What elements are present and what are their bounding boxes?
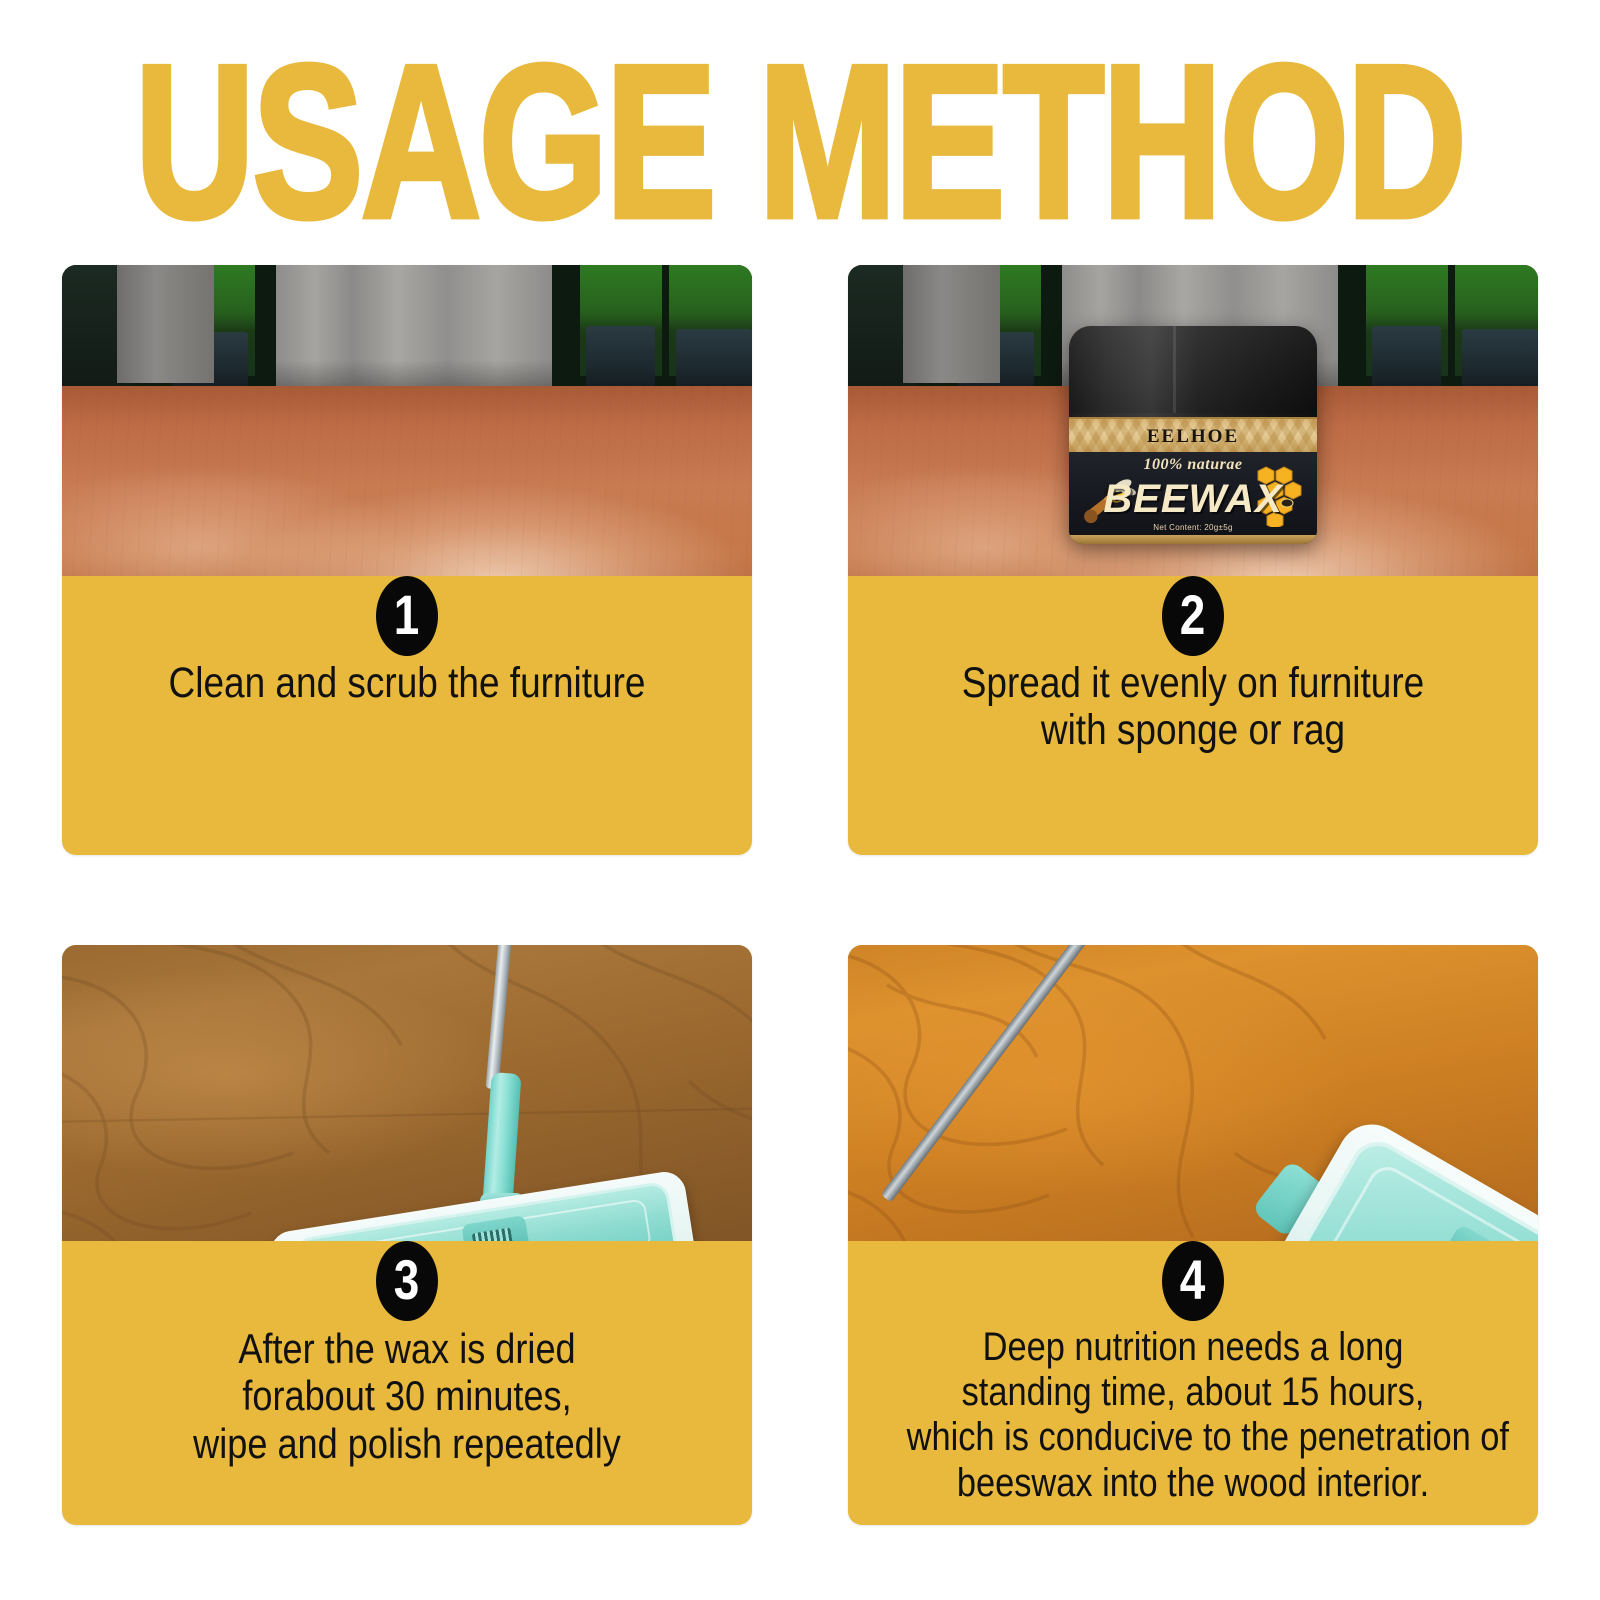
jar-brand-name: EELHOE <box>1147 426 1239 448</box>
jar-brand-band: EELHOE <box>1069 417 1317 456</box>
step-2-caption: 2 Spread it evenly on furniture with spo… <box>848 576 1538 771</box>
step-1-caption: 1 Clean and scrub the furniture <box>62 576 752 723</box>
step-badge-4: 4 <box>1162 1241 1224 1321</box>
step-2-photo: EELHOE <box>848 265 1538 602</box>
step-4-photo <box>848 945 1538 1267</box>
step-number-2: 2 <box>1180 587 1206 643</box>
mop-brown-floor-scene <box>62 945 752 1267</box>
jar-body: EELHOE <box>1069 326 1317 544</box>
step-number-3: 3 <box>394 1252 420 1308</box>
flower-pot-icon <box>1372 326 1441 390</box>
step-4-line-4: beeswax into the wood interior. <box>907 1461 1480 1506</box>
step-number-1: 1 <box>394 587 420 643</box>
step-3-text: After the wax is dried forabout 30 minut… <box>121 1325 694 1467</box>
jar-natural-claim: 100% naturae <box>1069 456 1317 474</box>
step-4-line-3: which is conducive to the penetration of <box>907 1415 1480 1460</box>
step-card-1: 1 Clean and scrub the furniture <box>62 265 752 855</box>
step-4-text: Deep nutrition needs a long standing tim… <box>907 1325 1480 1506</box>
beewax-jar: EELHOE <box>1069 326 1317 544</box>
step-card-3: 3 After the wax is dried forabout 30 min… <box>62 945 752 1525</box>
step-number-4: 4 <box>1180 1252 1206 1308</box>
step-1-photo <box>62 265 752 602</box>
step-3-line-1: After the wax is dried <box>121 1325 694 1372</box>
step-1-text: Clean and scrub the furniture <box>121 660 694 707</box>
step-1-line-1: Clean and scrub the furniture <box>121 660 694 707</box>
curtain-left <box>903 265 1000 383</box>
jar-product-name: BEEWAX <box>1069 477 1317 522</box>
step-3-line-3: wipe and polish repeatedly <box>121 1420 694 1467</box>
flower-pot-icon <box>586 326 655 390</box>
jar-lid <box>1069 326 1317 413</box>
clean-floor-scene <box>62 265 752 602</box>
step-badge-2: 2 <box>1162 576 1224 656</box>
flower-pot-icon <box>676 329 752 390</box>
steps-grid: 1 Clean and scrub the furniture <box>62 265 1538 1525</box>
step-4-caption: 4 Deep nutrition needs a long standing t… <box>848 1241 1538 1522</box>
apply-wax-scene: EELHOE <box>848 265 1538 602</box>
flower-pot-icon <box>1462 329 1538 390</box>
step-3-caption: 3 After the wax is dried forabout 30 min… <box>62 1241 752 1483</box>
step-2-line-1: Spread it evenly on furniture <box>907 660 1480 707</box>
jar-label: 100% naturae BEEWAX Net Content: 20g±5g <box>1069 452 1317 535</box>
step-4-line-1: Deep nutrition needs a long <box>907 1325 1480 1370</box>
step-card-4: 4 Deep nutrition needs a long standing t… <box>848 945 1538 1525</box>
jar-net-content: Net Content: 20g±5g <box>1069 523 1317 532</box>
mop-orange-floor-scene <box>848 945 1538 1267</box>
curtain-center <box>276 265 552 393</box>
jar-bottom-band <box>1069 535 1317 544</box>
step-4-line-2: standing time, about 15 hours, <box>907 1370 1480 1415</box>
page-header: USAGE METHOD <box>0 48 1600 201</box>
step-3-photo <box>62 945 752 1267</box>
curtain-left <box>117 265 214 383</box>
step-2-line-2: with sponge or rag <box>907 707 1480 754</box>
step-2-text: Spread it evenly on furniture with spong… <box>907 660 1480 755</box>
step-badge-1: 1 <box>376 576 438 656</box>
step-card-2: EELHOE <box>848 265 1538 855</box>
step-3-line-2: forabout 30 minutes, <box>121 1372 694 1419</box>
page-title: USAGE METHOD <box>135 48 1465 235</box>
step-badge-3: 3 <box>376 1241 438 1321</box>
wood-floor <box>62 386 752 602</box>
